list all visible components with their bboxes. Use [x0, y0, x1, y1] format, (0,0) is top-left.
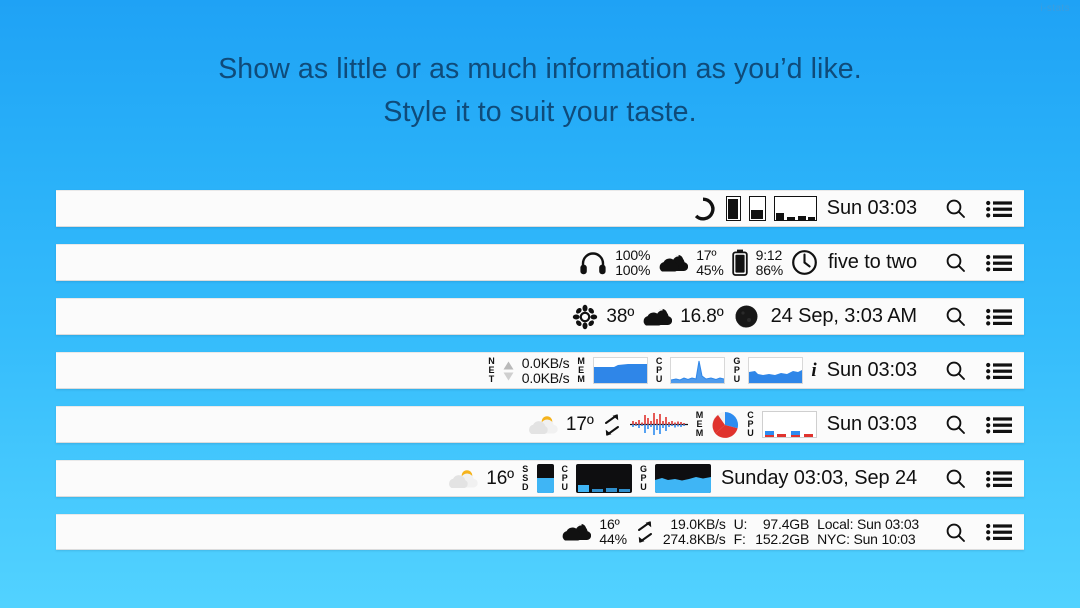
gpu-tag: GPU — [729, 353, 744, 388]
weather-temp-text: 16º — [486, 468, 514, 490]
cpu-tag: CPU — [652, 353, 667, 388]
clock-nyc: NYC: Sun 10:03 — [817, 532, 919, 547]
menu-bar-row-1[interactable]: Sun 03:03 — [56, 190, 1024, 227]
row-5-items: 17º — [524, 407, 923, 442]
menu-bar-row-6[interactable]: 16º SSD CPU — [56, 460, 1024, 497]
row-1-items: Sun 03:03 — [684, 191, 923, 226]
sun-cloud-emoji-icon[interactable] — [444, 461, 482, 496]
network-diagonal-arrows-icon[interactable] — [598, 407, 626, 442]
mem-label: MEM — [577, 357, 585, 383]
disk-values: 97.4GB 152.2GB — [751, 515, 813, 549]
weather-values: 16º 44% — [595, 515, 630, 549]
row-2-items: 100% 100% 17º 45% — [575, 245, 923, 280]
ssd-tag: SSD — [518, 461, 533, 496]
cpu-tag: CPU — [743, 407, 758, 442]
cloud-sun-icon[interactable] — [638, 299, 676, 334]
battery-values: 9:12 86% — [752, 245, 787, 280]
row-6-items: 16º SSD CPU — [444, 461, 923, 496]
list-menu-icon[interactable] — [986, 416, 1012, 434]
page-headline: Show as little or as much information as… — [0, 52, 1080, 130]
net-label: NET — [488, 357, 495, 383]
clock-label[interactable]: Sun 03:03 — [821, 407, 923, 442]
weather-temp-text: 17º — [566, 414, 594, 436]
bar-histogram-icon[interactable] — [770, 191, 821, 226]
row-6-tail — [941, 468, 1012, 489]
menu-bar-row-2[interactable]: 100% 100% 17º 45% — [56, 244, 1024, 281]
mem-label: MEM — [696, 411, 704, 437]
row-7-tail — [941, 522, 1012, 543]
clock-label[interactable]: Sunday 03:03, Sep 24 — [715, 461, 923, 496]
search-icon[interactable] — [945, 360, 966, 381]
net-stack: 0.0KB/s 0.0KB/s — [522, 356, 570, 386]
battery-percent: 86% — [756, 263, 783, 278]
battery-icon[interactable] — [728, 245, 752, 280]
menu-bar-row-7[interactable]: 16º 44% 19.0KB/s 274.8KB/s — [56, 514, 1024, 550]
mem-tag: MEM — [692, 407, 708, 442]
net-up: 0.0KB/s — [522, 356, 570, 371]
weather-value: 16º — [482, 461, 518, 496]
headphones-stack: 100% 100% — [615, 248, 650, 278]
list-menu-icon[interactable] — [986, 254, 1012, 272]
clock-label[interactable]: five to two — [822, 245, 923, 280]
clock-text: 24 Sep, 3:03 AM — [771, 305, 917, 328]
net-down: 0.0KB/s — [522, 371, 570, 386]
battery-time: 9:12 — [756, 248, 783, 263]
cpu-dark-bars-icon[interactable] — [572, 461, 636, 496]
clock-text: five to two — [828, 251, 917, 274]
search-icon[interactable] — [945, 468, 966, 489]
row-5-tail — [941, 414, 1012, 435]
area-graph-ramp-icon[interactable] — [744, 353, 807, 388]
weather-temp: 16º — [599, 517, 626, 532]
search-icon[interactable] — [945, 414, 966, 435]
info-italic-icon[interactable]: i — [807, 353, 820, 388]
cloud-sun-icon[interactable] — [654, 245, 692, 280]
weather-value: 16.8º — [676, 299, 727, 334]
disk-label-stack: U: F: — [734, 517, 748, 547]
clock-text: Sun 03:03 — [827, 197, 917, 220]
analog-clock-icon[interactable] — [787, 245, 822, 280]
cpu-label: CPU — [562, 465, 569, 491]
menu-bar-row-3[interactable]: 38º 16.8º — [56, 298, 1024, 335]
weather-temp-text: 16.8º — [680, 306, 723, 328]
info-letter: i — [811, 360, 816, 382]
list-menu-icon[interactable] — [986, 362, 1012, 380]
weather-values: 17º 45% — [692, 245, 727, 280]
gpu-label: GPU — [733, 357, 740, 383]
row-3-tail — [941, 306, 1012, 327]
up-down-arrows-icon — [499, 353, 518, 388]
dual-clock: Local: Sun 03:03 NYC: Sun 10:03 — [813, 515, 923, 549]
menu-bar-row-5[interactable]: 17º — [56, 406, 1024, 443]
battery-stack: 9:12 86% — [756, 248, 783, 278]
clock-label[interactable]: 24 Sep, 3:03 AM — [765, 299, 923, 334]
headline-line-2: Style it to suit your taste. — [0, 95, 1080, 130]
headline-line-1: Show as little or as much information as… — [0, 52, 1080, 87]
net-up: 19.0KB/s — [663, 517, 726, 532]
clock-label[interactable]: Sun 03:03 — [821, 353, 923, 388]
weather-stack: 16º 44% — [599, 517, 626, 547]
search-icon[interactable] — [945, 306, 966, 327]
row-1-tail — [941, 198, 1012, 219]
list-menu-icon[interactable] — [986, 308, 1012, 326]
disk-value-stack: 97.4GB 152.2GB — [755, 517, 809, 547]
weather-stack: 17º 45% — [696, 248, 723, 278]
net-tag: NET — [484, 353, 499, 388]
disk-used-value: 97.4GB — [755, 517, 809, 532]
headphones-top: 100% — [615, 248, 650, 263]
net-stack: 19.0KB/s 274.8KB/s — [663, 517, 726, 547]
arrows — [503, 361, 514, 381]
row-2-tail — [941, 252, 1012, 273]
row-4-tail — [941, 360, 1012, 381]
menu-bar-row-4[interactable]: NET 0.0KB/s 0.0KB/s MEM — [56, 352, 1024, 389]
gpu-dark-area-icon[interactable] — [651, 461, 715, 496]
menu-bar-list: Sun 03:03 — [56, 190, 1024, 567]
search-icon[interactable] — [945, 252, 966, 273]
gpu-tag: GPU — [636, 461, 651, 496]
search-icon[interactable] — [945, 198, 966, 219]
sun-cloud-emoji-icon[interactable] — [524, 407, 562, 442]
ssd-label: SSD — [522, 465, 529, 491]
network-diagonal-arrows-icon[interactable] — [631, 515, 659, 549]
pie-chart-icon[interactable] — [707, 407, 743, 442]
list-menu-icon[interactable] — [986, 523, 1012, 541]
headphones-values: 100% 100% — [611, 245, 654, 280]
fan-icon[interactable] — [568, 299, 602, 334]
area-graph-light-icon[interactable] — [589, 353, 652, 388]
row-3-items: 38º 16.8º — [568, 299, 923, 334]
moon-phase-icon[interactable] — [728, 299, 765, 334]
fan-speed-text: 38º — [606, 306, 634, 328]
net-down: 274.8KB/s — [663, 532, 726, 547]
cpu-tag: CPU — [558, 461, 573, 496]
clock-local: Local: Sun 03:03 — [817, 517, 919, 532]
corner-watermark: i-stats — [1041, 3, 1070, 14]
cloud-icon[interactable] — [557, 515, 595, 549]
line-graph-spike-icon[interactable] — [666, 353, 729, 388]
fan-value: 38º — [602, 299, 638, 334]
search-icon[interactable] — [945, 522, 966, 543]
cpu-label: CPU — [747, 411, 754, 437]
list-menu-icon[interactable] — [986, 470, 1012, 488]
headphones-bottom: 100% — [615, 263, 650, 278]
clock-text: Sun 03:03 — [827, 413, 917, 436]
list-menu-icon[interactable] — [986, 200, 1012, 218]
disk-free-value: 152.2GB — [755, 532, 809, 547]
ssd-vertical-dark-icon[interactable] — [533, 461, 558, 496]
row-4-items: NET 0.0KB/s 0.0KB/s MEM — [484, 353, 923, 388]
bar-chart-colour-icon[interactable] — [758, 407, 821, 442]
clock-label[interactable]: Sun 03:03 — [821, 191, 923, 226]
network-waveform-icon[interactable] — [626, 407, 692, 442]
storage-vertical-partial-icon[interactable] — [745, 191, 770, 226]
cpu-label: CPU — [656, 357, 663, 383]
net-values: 0.0KB/s 0.0KB/s — [518, 353, 574, 388]
net-values: 19.0KB/s 274.8KB/s — [659, 515, 730, 549]
row-7-items: 16º 44% 19.0KB/s 274.8KB/s — [557, 515, 923, 549]
disk-used-label: U: — [734, 517, 748, 532]
weather-value: 17º — [562, 407, 598, 442]
donut-gauge-icon[interactable] — [684, 191, 722, 226]
dual-clock-stack: Local: Sun 03:03 NYC: Sun 10:03 — [817, 517, 919, 547]
headphones-icon[interactable] — [575, 245, 611, 280]
weather-humidity: 45% — [696, 263, 723, 278]
weather-temp: 17º — [696, 248, 723, 263]
weather-humidity: 44% — [599, 532, 626, 547]
gpu-label: GPU — [640, 465, 647, 491]
disk-free-label: F: — [734, 532, 748, 547]
mem-tag: MEM — [573, 353, 589, 388]
clock-text: Sun 03:03 — [827, 359, 917, 382]
battery-vertical-full-icon[interactable] — [722, 191, 745, 226]
clock-text: Sunday 03:03, Sep 24 — [721, 467, 917, 490]
disk-labels: U: F: — [730, 515, 752, 549]
